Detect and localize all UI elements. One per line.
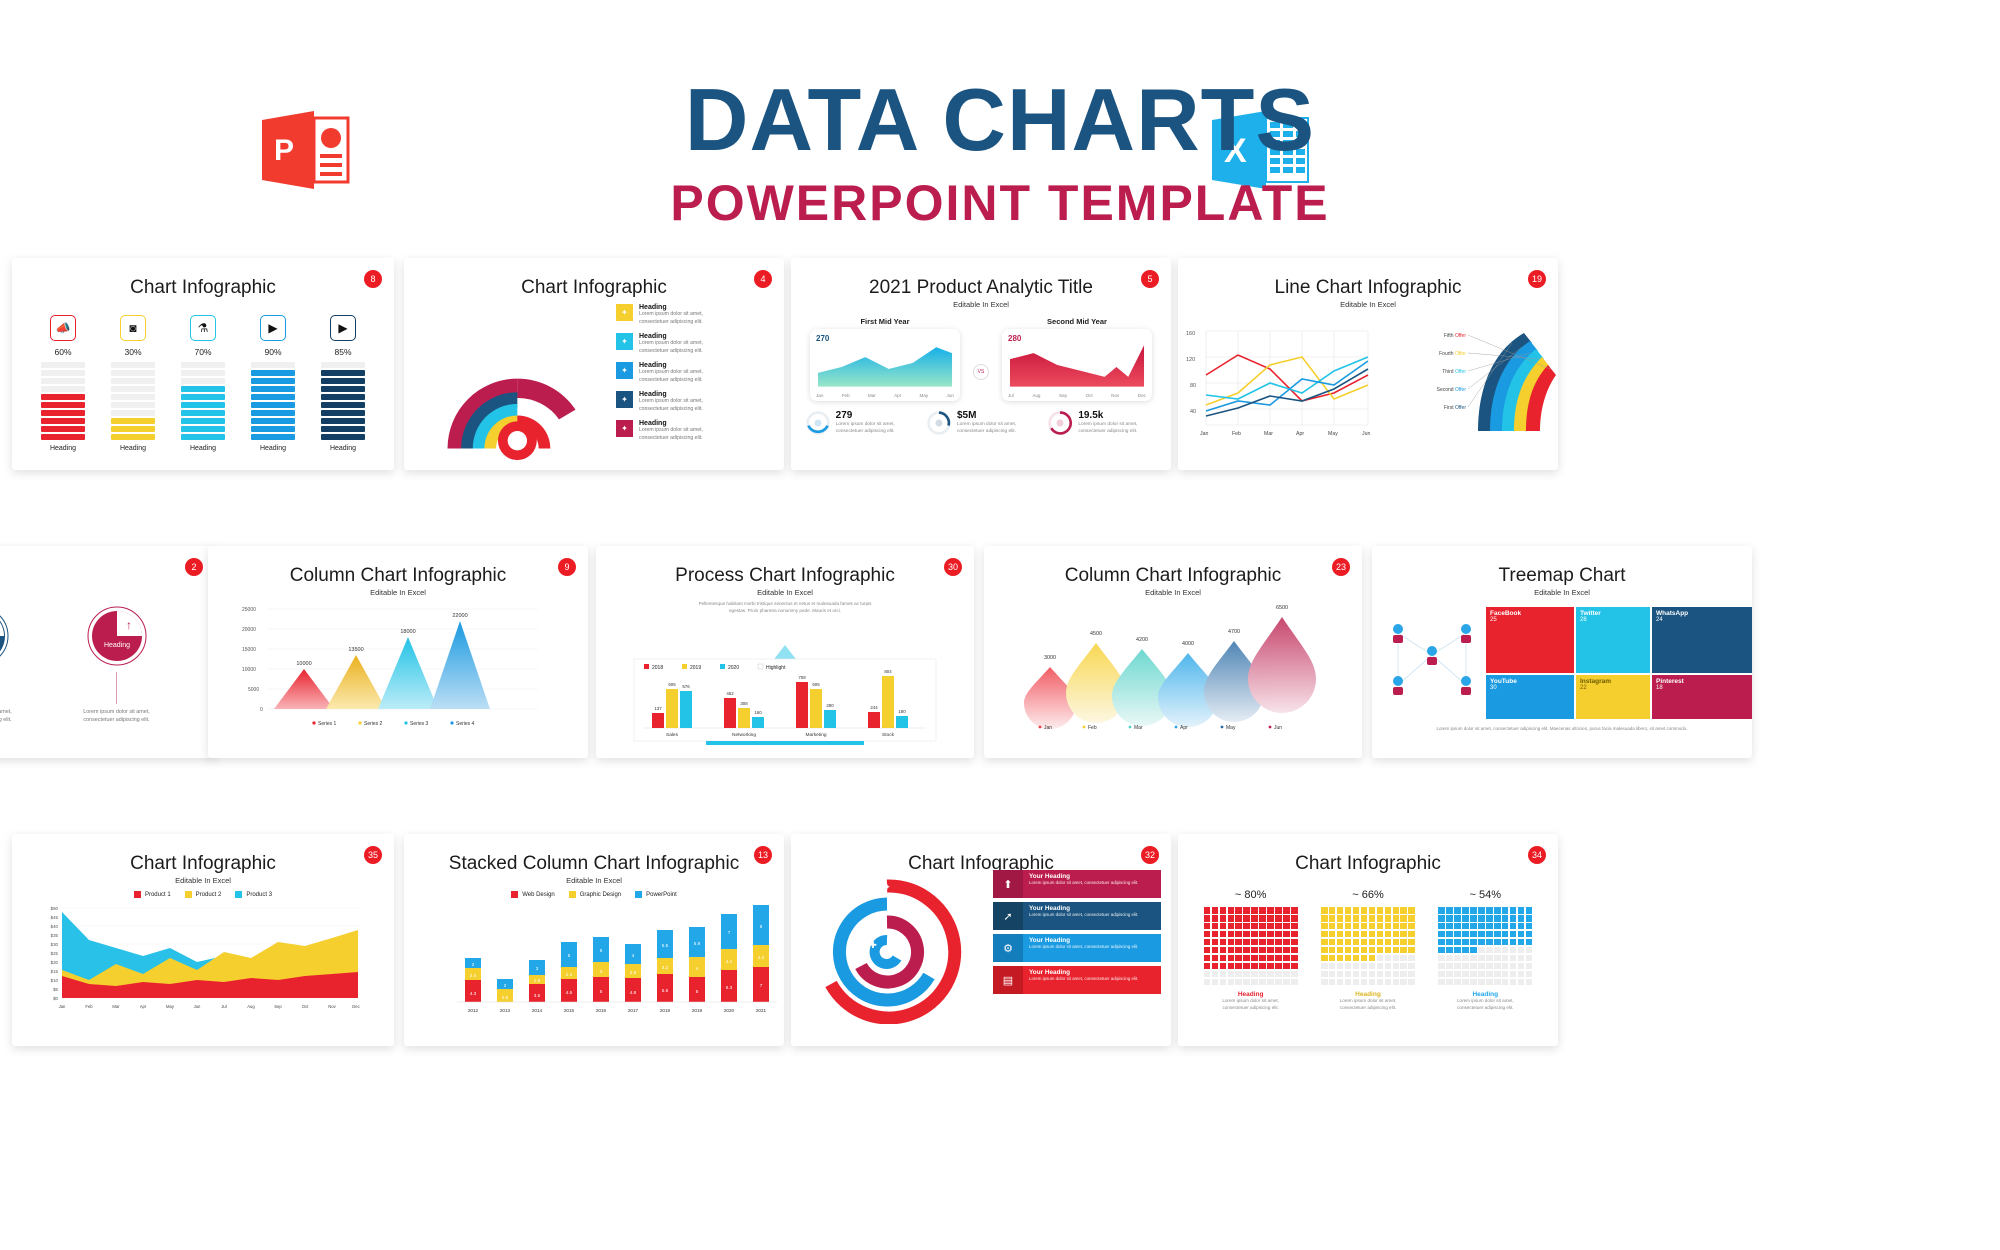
svg-text:20000: 20000 [242, 627, 256, 633]
slide-chart-infographic-arc-list[interactable]: 32 Chart Infographic ✦◉✚ ⬆ Your Heading … [791, 834, 1171, 1046]
svg-text:8: 8 [760, 924, 763, 929]
legend-swatch [185, 891, 192, 898]
svg-text:Networking: Networking [732, 732, 756, 738]
treemap-cell[interactable]: Instagram 22 [1576, 675, 1650, 719]
dot-matrix [1321, 907, 1415, 985]
dot-cell [1470, 979, 1477, 986]
dot-cell [1228, 931, 1235, 938]
dot-cell [1393, 979, 1400, 986]
svg-text:5: 5 [568, 953, 571, 958]
dot-cell [1243, 955, 1250, 962]
dot-cell [1526, 907, 1533, 914]
svg-text:5: 5 [600, 948, 603, 953]
dot-cell [1228, 979, 1235, 986]
legend-swatch [635, 891, 642, 898]
slide-body-text: Pellentesque habitant morbi tristique se… [596, 597, 974, 615]
slide-column-chart-spikes[interactable]: 9 Column Chart Infographic Editable In E… [208, 546, 588, 758]
icon-bar-label: Heading [111, 445, 155, 452]
grid-desc: Lorem ipsum dolor sit amet, [1438, 998, 1532, 1005]
dot-cell [1486, 915, 1493, 922]
stacked-column-chart: 4.3 2.4 2 2.5 2 3.5 1.8 3 4.5 2.3 5 5 3 … [404, 900, 784, 1020]
circle-desc2: consectetuer adipiscing elit. [69, 716, 165, 724]
dot-cell [1462, 915, 1469, 922]
dot-cell [1470, 915, 1477, 922]
dot-cell [1212, 907, 1219, 914]
svg-text:3.2: 3.2 [662, 965, 669, 970]
slide-teardrop-column-chart[interactable]: 23 Column Chart Infographic Editable In … [984, 546, 1362, 758]
svg-text:Feb: Feb [1088, 725, 1097, 731]
dot-cell [1259, 915, 1266, 922]
dot-cell [1204, 907, 1211, 914]
dot-cell [1518, 979, 1525, 986]
dot-cell [1454, 979, 1461, 986]
dot-cell [1259, 939, 1266, 946]
dot-cell [1321, 947, 1328, 954]
list-item[interactable]: ✦ Heading Lorem ipsum dolor sit amet, co… [616, 333, 776, 355]
dot-cell [1353, 963, 1360, 970]
svg-text:May: May [166, 1004, 175, 1009]
treemap-footer: Lorem ipsum dolor sit amet, consectetuer… [1372, 719, 1752, 738]
dot-cell [1486, 979, 1493, 986]
slide-subtitle: Editable In Excel [1178, 300, 1558, 309]
svg-text:4000: 4000 [1182, 641, 1194, 647]
dot-grid-column[interactable]: ~ 54% Heading Lorem ipsum dolor sit amet… [1438, 889, 1532, 1012]
dot-cell [1377, 963, 1384, 970]
dot-cell [1454, 939, 1461, 946]
list-item[interactable]: ▤ Your Heading Lorem ipsum dolor sit ame… [993, 966, 1161, 994]
dot-cell [1526, 963, 1533, 970]
grid-desc2: consectetuer adipiscing elit. [1204, 1005, 1298, 1012]
list-item-heading: Heading [639, 391, 703, 398]
dot-cell [1408, 915, 1415, 922]
rocket-icon: ➚ Heading [0, 605, 10, 667]
treemap-label: FaceBook [1490, 610, 1570, 617]
svg-text:Series 3: Series 3 [410, 721, 429, 727]
dot-cell [1502, 915, 1509, 922]
treemap-cell[interactable]: Pinterest 18 [1652, 675, 1752, 719]
grid-desc: Lorem ipsum dolor sit amet, [1204, 998, 1298, 1005]
svg-text:4.3: 4.3 [470, 991, 477, 996]
dot-cell [1478, 923, 1485, 930]
legend-swatch [235, 891, 242, 898]
dot-cell [1267, 963, 1274, 970]
treemap-label: YouTube [1490, 678, 1570, 685]
svg-text:Sales: Sales [666, 732, 679, 738]
dot-cell [1369, 971, 1376, 978]
slide-grid: 8 Chart Infographic 📣 60% Heading ◙ 30% [0, 258, 2000, 1122]
dot-cell [1494, 907, 1501, 914]
dot-cell [1321, 931, 1328, 938]
legend-item[interactable]: Product 3 [235, 891, 272, 898]
legend-swatch [134, 891, 141, 898]
dot-cell [1337, 963, 1344, 970]
dot-cell [1243, 947, 1250, 954]
slide-product-analytic[interactable]: 5 2021 Product Analytic Title Editable I… [791, 258, 1171, 470]
dot-cell [1251, 955, 1258, 962]
list-item[interactable]: ✦ Heading Lorem ipsum dolor sit amet, co… [616, 304, 776, 326]
dot-cell [1462, 907, 1469, 914]
legend-item[interactable]: PowerPoint [635, 891, 677, 898]
dot-cell [1235, 939, 1242, 946]
svg-text:2017: 2017 [628, 1008, 639, 1013]
dot-cell [1377, 931, 1384, 938]
dot-cell [1470, 923, 1477, 930]
treemap-value: 24 [1656, 617, 1663, 623]
dot-cell [1478, 955, 1485, 962]
dot-cell [1259, 971, 1266, 978]
svg-text:4: 4 [696, 966, 699, 971]
dot-cell [1345, 931, 1352, 938]
gear-icon: ⚙ [993, 934, 1023, 962]
slide-row-3: 35 Chart Infographic Editable In Excel P… [0, 834, 2000, 1074]
dot-cell [1526, 923, 1533, 930]
slide-badge: 8 [364, 270, 382, 288]
treemap-value: 28 [1580, 617, 1587, 623]
dot-cell [1438, 971, 1445, 978]
dot-cell [1446, 931, 1453, 938]
treemap-value: 30 [1490, 685, 1497, 691]
dot-cell [1291, 939, 1298, 946]
dot-cell [1361, 915, 1368, 922]
stat-card[interactable]: $5M Lorem ipsum dolor sit amet, consecte… [926, 410, 1036, 436]
dot-cell [1518, 971, 1525, 978]
treemap-cell[interactable]: FaceBook 25 [1486, 607, 1574, 673]
dot-cell [1393, 923, 1400, 930]
item-desc: Lorem ipsum dolor sit amet, consectetuer… [1029, 912, 1155, 918]
dot-cell [1212, 939, 1219, 946]
dot-cell [1321, 955, 1328, 962]
dot-cell [1385, 907, 1392, 914]
dot-cell [1361, 971, 1368, 978]
dot-cell [1251, 979, 1258, 986]
svg-text:Series 4: Series 4 [456, 721, 475, 727]
slide-stacked-column-chart[interactable]: 13 Stacked Column Chart Infographic Edit… [404, 834, 784, 1046]
dot-cell [1329, 915, 1336, 922]
svg-text:0: 0 [260, 707, 263, 713]
treemap-cell[interactable]: WhatsApp 24 [1652, 607, 1752, 673]
legend-label: Product 3 [246, 892, 272, 898]
dot-cell [1353, 923, 1360, 930]
dot-cell [1267, 939, 1274, 946]
dot-cell [1494, 939, 1501, 946]
icon-bar-column[interactable]: 📣 60% Heading [41, 315, 85, 452]
list-item[interactable]: ➚ Your Heading Lorem ipsum dolor sit ame… [993, 902, 1161, 930]
svg-text:120: 120 [1186, 357, 1195, 363]
dot-cell [1518, 963, 1525, 970]
dot-cell [1220, 979, 1227, 986]
svg-text:2013: 2013 [500, 1008, 511, 1013]
dot-cell [1275, 947, 1282, 954]
icon-bar-label: Heading [181, 445, 225, 452]
stat-value: $5M [957, 410, 1036, 421]
legend-label: Web Design [522, 892, 555, 898]
dot-cell [1502, 971, 1509, 978]
slide-dot-grid-infographic[interactable]: 34 Chart Infographic ~ 80% Heading Lorem… [1178, 834, 1558, 1046]
dot-cell [1446, 915, 1453, 922]
dot-cell [1329, 963, 1336, 970]
dot-cell [1267, 907, 1274, 914]
dot-cell [1408, 979, 1415, 986]
icon-bar-stack [111, 362, 155, 440]
svg-text:$35: $35 [51, 933, 59, 938]
slide-title: 2021 Product Analytic Title [791, 258, 1171, 299]
treemap-label: Pinterest [1656, 678, 1748, 685]
slide-area-chart-infographic[interactable]: 35 Chart Infographic Editable In Excel P… [12, 834, 394, 1046]
dot-cell [1494, 963, 1501, 970]
dot-cell [1377, 907, 1384, 914]
right-month-axis: JulAugSepOctNovDec [1008, 393, 1146, 398]
icon-bar-column[interactable]: ◙ 30% Heading [111, 315, 155, 452]
dot-cell [1337, 931, 1344, 938]
svg-text:2020: 2020 [724, 1008, 735, 1013]
concentric-arc-chart [430, 303, 595, 463]
list-item-desc2: consectetuer adipiscing elit. [639, 406, 703, 414]
dot-cell [1204, 971, 1211, 978]
slide-process-chart[interactable]: 30 Process Chart Infographic Editable In… [596, 546, 974, 758]
icon-bar-percent: 60% [41, 347, 85, 357]
dot-cell [1228, 915, 1235, 922]
dot-cell [1204, 955, 1211, 962]
slide-row-1: 8 Chart Infographic 📣 60% Heading ◙ 30% [0, 258, 2000, 498]
dot-cell [1494, 955, 1501, 962]
dot-cell [1251, 939, 1258, 946]
dot-cell [1478, 931, 1485, 938]
dot-cell [1446, 907, 1453, 914]
flask-icon: ⚗ [190, 315, 216, 341]
slide-treemap-chart[interactable]: Treemap Chart Editable In Excel FaceBook… [1372, 546, 1752, 758]
dot-cell [1486, 939, 1493, 946]
slide-title: Chart Infographic [12, 834, 394, 875]
dot-cell [1361, 963, 1368, 970]
stats-row: 279 Lorem ipsum dolor sit amet, consecte… [791, 410, 1171, 436]
svg-text:2021: 2021 [756, 1008, 767, 1013]
svg-text:280: 280 [826, 703, 834, 708]
svg-text:Marketing: Marketing [805, 732, 826, 738]
dot-cell [1385, 979, 1392, 986]
dot-cell [1502, 931, 1509, 938]
svg-text:Stock: Stock [882, 732, 895, 738]
dot-cell [1454, 931, 1461, 938]
svg-text:2: 2 [472, 962, 475, 967]
dot-cell [1235, 907, 1242, 914]
dot-cell [1235, 979, 1242, 986]
spike-column-chart: 250002000015000 1000050000 1000013500 18… [208, 597, 588, 737]
svg-text:$50: $50 [51, 906, 59, 911]
treemap-label: Twitter [1580, 610, 1646, 617]
slide-two-circle-infographic[interactable]: 2 Infographic ➚ Heading Lorem ipsum dolo… [0, 546, 215, 758]
legend-item[interactable]: Product 1 [134, 891, 171, 898]
dot-cell [1212, 963, 1219, 970]
list-item[interactable]: ✦ Heading Lorem ipsum dolor sit amet, co… [616, 391, 776, 413]
dot-cell [1204, 947, 1211, 954]
svg-text:Jun: Jun [1362, 431, 1370, 437]
dot-cell [1438, 923, 1445, 930]
dot-cell [1478, 963, 1485, 970]
dot-cell [1337, 923, 1344, 930]
dot-grid-column[interactable]: ~ 66% Heading Lorem ipsum dolor sit amet… [1321, 889, 1415, 1012]
dot-cell [1329, 979, 1336, 986]
stat-card[interactable]: 19.5k Lorem ipsum dolor sit amet, consec… [1047, 410, 1157, 436]
hexagon-icon: ✦ [616, 304, 633, 321]
dot-cell [1438, 963, 1445, 970]
dot-cell [1400, 939, 1407, 946]
dot-cell [1446, 979, 1453, 986]
slide-title: Column Chart Infographic [984, 546, 1362, 587]
dot-cell [1228, 971, 1235, 978]
legend-item[interactable]: Product 2 [185, 891, 222, 898]
dot-cell [1400, 963, 1407, 970]
treemap-cell[interactable]: Twitter 28 [1576, 607, 1650, 673]
slide-title: Chart Infographic [1178, 834, 1558, 875]
dot-cell [1393, 907, 1400, 914]
svg-text:18000: 18000 [400, 629, 415, 635]
list-item[interactable]: ⚙ Your Heading Lorem ipsum dolor sit ame… [993, 934, 1161, 962]
list-item-heading: Heading [639, 362, 703, 369]
circle-stat[interactable]: ➚ Heading Lorem ipsum dolor sit amet, co… [0, 605, 27, 724]
dot-cell [1454, 907, 1461, 914]
dot-grid-column[interactable]: ~ 80% Heading Lorem ipsum dolor sit amet… [1204, 889, 1298, 1012]
treemap-label: Instagram [1580, 678, 1646, 685]
dot-cell [1251, 907, 1258, 914]
hexagon-icon: ✦ [616, 420, 633, 437]
dot-cell [1220, 971, 1227, 978]
dot-cell [1337, 947, 1344, 954]
svg-text:✚: ✚ [869, 940, 877, 950]
dot-cell [1220, 955, 1227, 962]
list-item-desc: Lorem ipsum dolor sit amet, [639, 311, 703, 319]
legend-item[interactable]: Graphic Design [569, 891, 621, 898]
item-heading: Your Heading [1029, 969, 1155, 976]
dot-cell [1369, 979, 1376, 986]
dot-cell [1518, 939, 1525, 946]
dot-cell [1486, 963, 1493, 970]
dot-cell [1478, 907, 1485, 914]
dot-cell [1510, 915, 1517, 922]
dot-cell [1220, 939, 1227, 946]
svg-text:605: 605 [668, 682, 676, 687]
list-item[interactable]: ⬆ Your Heading Lorem ipsum dolor sit ame… [993, 870, 1161, 898]
dot-cell [1438, 979, 1445, 986]
dot-cell [1228, 963, 1235, 970]
dot-cell [1353, 971, 1360, 978]
dot-cell [1510, 947, 1517, 954]
dot-cell [1502, 955, 1509, 962]
dot-cell [1454, 963, 1461, 970]
dot-cell [1462, 963, 1469, 970]
legend-item[interactable]: Web Design [511, 891, 555, 898]
dot-cell [1259, 907, 1266, 914]
stat-card[interactable]: 279 Lorem ipsum dolor sit amet, consecte… [805, 410, 915, 436]
dot-cell [1353, 955, 1360, 962]
dot-cell [1510, 907, 1517, 914]
dot-cell [1470, 947, 1477, 954]
dot-cell [1283, 963, 1290, 970]
svg-text:Heading: Heading [103, 642, 129, 649]
dot-cell [1510, 963, 1517, 970]
icon-bar-column[interactable]: ⚗ 70% Heading [181, 315, 225, 452]
dot-cell [1408, 963, 1415, 970]
dot-cell [1353, 979, 1360, 986]
slide-badge: 2 [185, 558, 203, 576]
dot-cell [1502, 923, 1509, 930]
dot-cell [1291, 915, 1298, 922]
dot-cell [1291, 907, 1298, 914]
dot-cell [1518, 931, 1525, 938]
svg-text:4: 4 [632, 953, 635, 958]
svg-text:$15: $15 [51, 969, 59, 974]
dot-cell [1243, 907, 1250, 914]
dot-cell [1291, 955, 1298, 962]
dot-cell [1321, 971, 1328, 978]
dot-cell [1291, 923, 1298, 930]
dot-cell [1486, 931, 1493, 938]
svg-text:$30: $30 [51, 942, 59, 947]
list-item[interactable]: ✦ Heading Lorem ipsum dolor sit amet, co… [616, 420, 776, 442]
second-mid-year-label: Second Mid Year [1002, 317, 1152, 326]
dot-cell [1243, 971, 1250, 978]
chart-legend: Web Design Graphic Design PowerPoint [404, 891, 784, 898]
dot-cell [1393, 971, 1400, 978]
dot-cell [1283, 907, 1290, 914]
arc-legend-list: ✦ Heading Lorem ipsum dolor sit amet, co… [616, 304, 776, 449]
list-item[interactable]: ✦ Heading Lorem ipsum dolor sit amet, co… [616, 362, 776, 384]
dot-cell [1408, 971, 1415, 978]
dot-cell [1353, 947, 1360, 954]
circle-desc: Lorem ipsum dolor sit amet, [0, 708, 27, 716]
dot-cell [1353, 939, 1360, 946]
second-half-area-chart[interactable]: 280 JulAugSepOctNovDec [1002, 329, 1152, 401]
circle-stat[interactable]: ↑ Heading Lorem ipsum dolor sit amet, co… [69, 605, 165, 724]
dot-cell [1400, 907, 1407, 914]
dot-cell [1385, 915, 1392, 922]
icon-bar-column[interactable]: ▶ 90% Heading [251, 315, 295, 452]
dot-cell [1510, 979, 1517, 986]
svg-text:May: May [1226, 725, 1236, 731]
dot-cell [1361, 923, 1368, 930]
slide-subtitle: Editable In Excel [984, 588, 1362, 597]
treemap-cell[interactable]: YouTube 30 [1486, 675, 1574, 719]
first-half-area-chart[interactable]: 270 JanFebMarAprMayJun [810, 329, 960, 401]
dot-cell [1369, 907, 1376, 914]
svg-text:Jun: Jun [1274, 725, 1282, 731]
dot-cell [1204, 931, 1211, 938]
svg-text:2015: 2015 [564, 1008, 575, 1013]
dot-cell [1454, 923, 1461, 930]
dot-cell [1212, 931, 1219, 938]
svg-text:7: 7 [728, 930, 731, 935]
icon-bar-column[interactable]: ▶ 85% Heading [321, 315, 365, 452]
camera-icon: ◙ [120, 315, 146, 341]
dot-cell [1385, 963, 1392, 970]
svg-text:$45: $45 [51, 915, 59, 920]
dot-cell [1438, 955, 1445, 962]
dot-cell [1494, 923, 1501, 930]
slide-line-chart-infographic[interactable]: 19 Line Chart Infographic Editable In Ex… [1178, 258, 1558, 470]
svg-text:13500: 13500 [348, 647, 363, 653]
dot-cell [1438, 915, 1445, 922]
slide-badge: 23 [1332, 558, 1350, 576]
spiral-arc-chart: ✦◉✚ [809, 874, 965, 1024]
dot-cell [1235, 971, 1242, 978]
slide-chart-infographic-arcs[interactable]: 4 Chart Infographic ✦ Heading Lorem ipsu… [404, 258, 784, 470]
svg-text:Jun: Jun [194, 1004, 201, 1009]
svg-text:576: 576 [682, 684, 690, 689]
legend-label: PowerPoint [646, 892, 677, 898]
dot-cell [1462, 923, 1469, 930]
icon-bar-percent: 30% [111, 347, 155, 357]
slide-chart-infographic-icon-bars[interactable]: 8 Chart Infographic 📣 60% Heading ◙ 30% [12, 258, 394, 470]
svg-text:Mar: Mar [1134, 725, 1143, 731]
